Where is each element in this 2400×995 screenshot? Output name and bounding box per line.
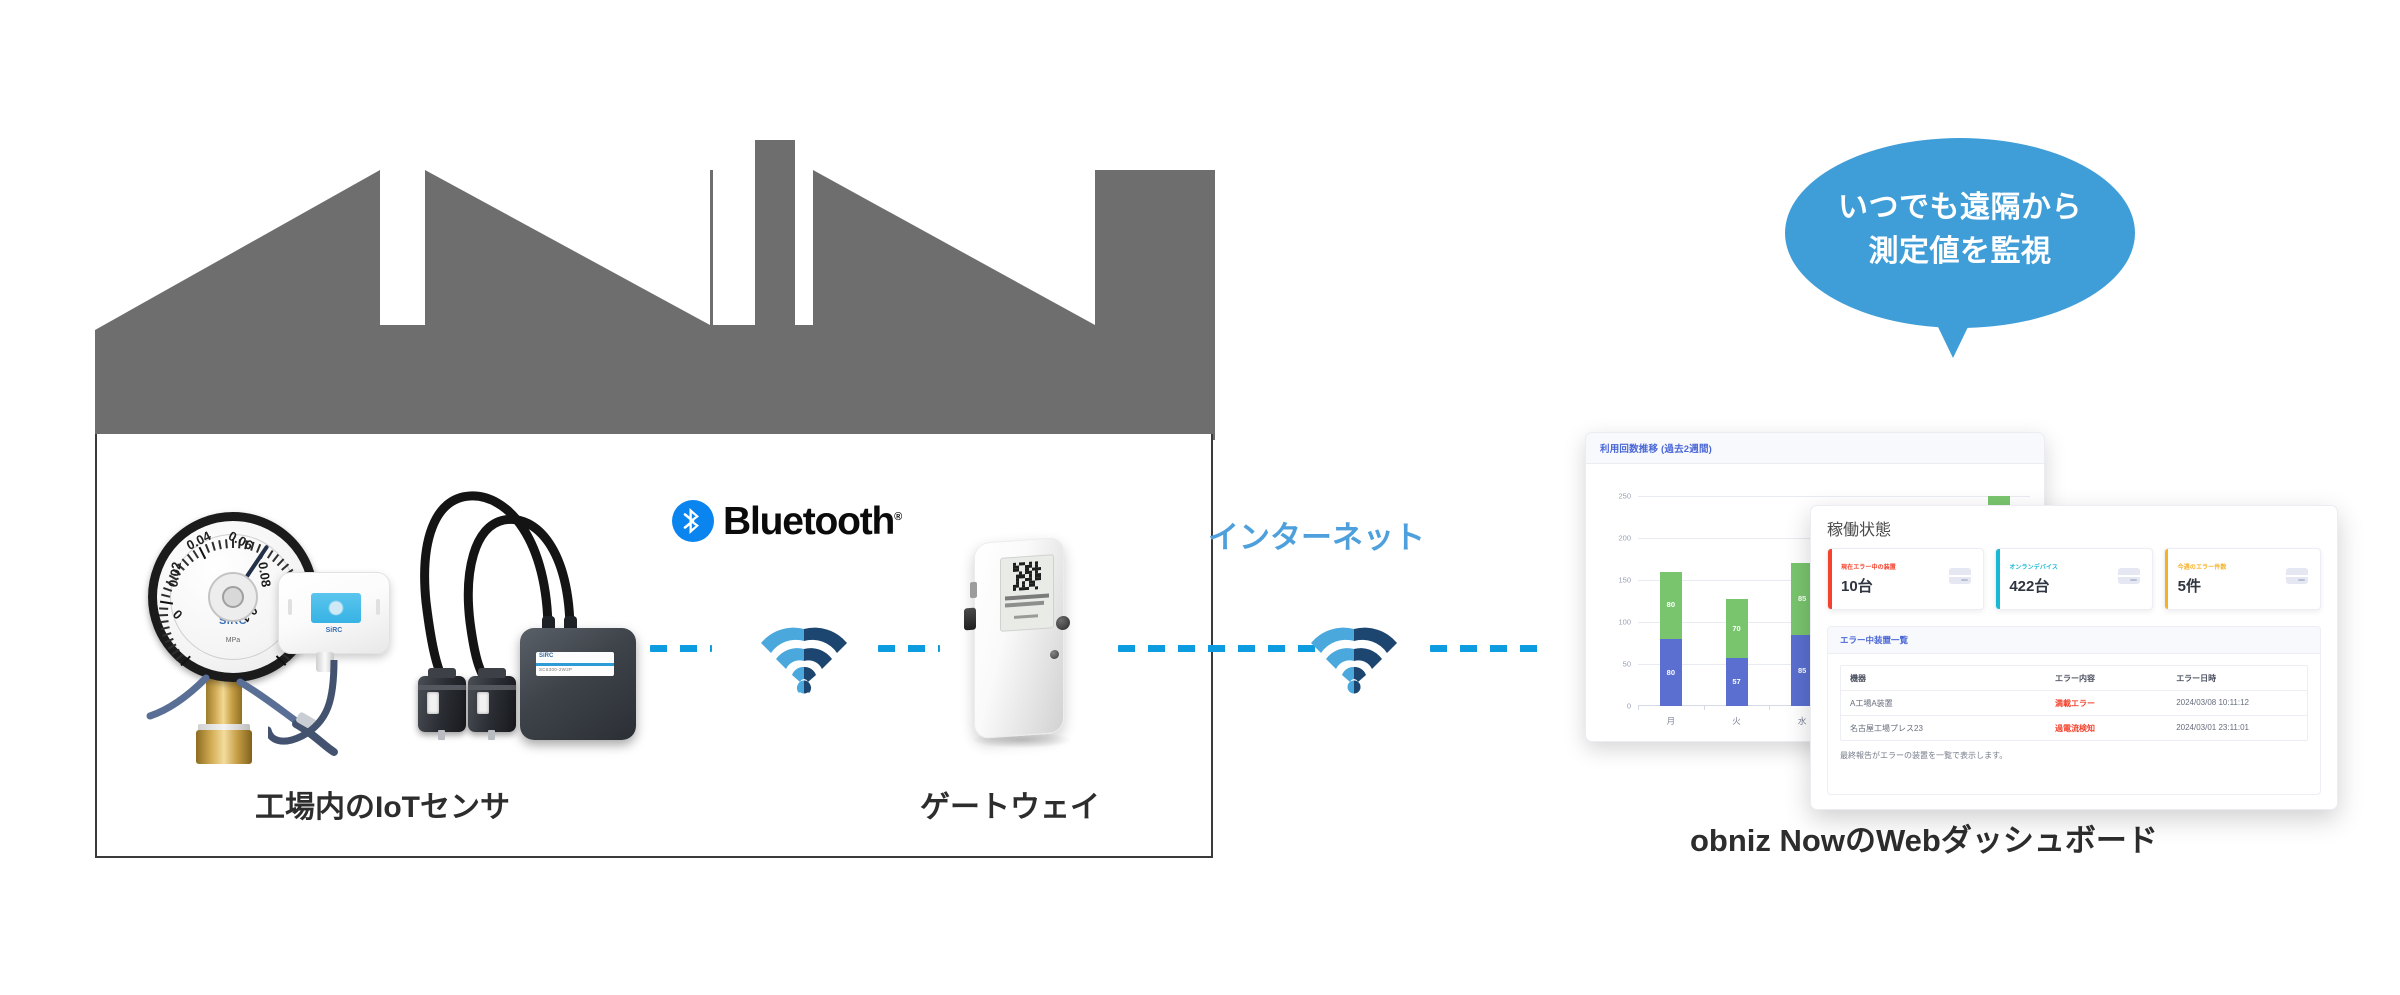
gauge-tick (187, 554, 194, 562)
chart-y-tick: 100 (1618, 618, 1631, 627)
chart-bar-value: 85 (1798, 595, 1806, 603)
table-cell-datetime: 2024/03/01 23:11:01 (2167, 716, 2307, 740)
gauge-unit-label: MPa (226, 637, 240, 644)
kpi-value: 422台 (2009, 575, 2049, 596)
sensor-cable (268, 660, 408, 790)
link-dash-4 (1430, 645, 1550, 652)
gauge-tick (161, 626, 170, 630)
gateway-main-button (1056, 616, 1070, 631)
speech-bubble-text: いつでも遠隔から 測定値を監視 (1785, 186, 2135, 273)
speech-bubble-line-2: 測定値を監視 (1785, 230, 2135, 274)
gauge-tick (160, 600, 173, 604)
qr-cell (1035, 586, 1038, 589)
gauge-tick (163, 587, 172, 592)
gauge-tick (165, 638, 174, 643)
ct-label-stripe (536, 663, 614, 666)
ct-sensor-label: SiRC SC6300-2W2P (536, 652, 614, 676)
table-row[interactable]: 名古屋工場プレス23過電流検知2024/03/01 23:11:01 (1841, 716, 2307, 740)
ct-clamp-2-pin (488, 730, 495, 740)
gauge-tick (272, 554, 279, 562)
error-panel-note: 最終報告がエラーの装置を一覧で表示します。 (1840, 750, 2308, 761)
sensor-indicator-dot (329, 601, 344, 616)
gauge-tick (159, 620, 168, 623)
gauge-tick (171, 649, 180, 656)
dashboard-caption: obniz NowのWebダッシュボード (1690, 815, 2158, 860)
ct-brand-label: SiRC (539, 653, 553, 659)
ct-model-label: SC6300-2W2P (539, 667, 572, 672)
kpi-card-1[interactable]: 現在エラー中の装置10台 (1827, 548, 1984, 610)
error-panel-title: エラー中装置一覧 (1840, 634, 1908, 646)
chart-y-tick: 250 (1618, 492, 1631, 501)
gateway-display-line-1 (1005, 593, 1049, 600)
bluetooth-text: Bluetooth (723, 500, 894, 543)
wifi-icon-bluetooth-link (750, 605, 858, 695)
chart-bar-segment-current: 57 (1726, 658, 1748, 706)
ct-clamp-1-pin (438, 730, 445, 740)
chart-axis-mark (1704, 706, 1705, 710)
kpi-value: 5件 (2178, 575, 2201, 596)
gauge-tick (159, 614, 168, 616)
kpi-value: 10台 (1841, 575, 1873, 596)
gauge-tick (175, 654, 183, 661)
chart-axis-mark (1638, 706, 1639, 710)
kpi-label: 現在エラー中の装置 (1841, 562, 1896, 571)
chart-y-tick: 150 (1618, 576, 1631, 585)
chart-y-tick: 200 (1618, 534, 1631, 543)
ct-clamp-1 (418, 676, 466, 732)
bluetooth-wordmark: Bluetooth® (723, 502, 901, 541)
kpi-card-3[interactable]: 今週のエラー件数5件 (2164, 548, 2321, 610)
bluetooth-icon (672, 500, 714, 542)
link-dash-1 (650, 645, 712, 652)
table-header-row: 機器エラー内容エラー日時 (1841, 666, 2307, 691)
gateway-display-line-3 (1014, 614, 1038, 619)
device-icon (2118, 568, 2140, 584)
chart-bar-value: 80 (1667, 601, 1675, 609)
gauge-tick (168, 643, 177, 649)
link-dash-3 (1118, 645, 1318, 652)
ct-sensor-body: SiRC SC6300-2W2P (520, 628, 636, 740)
chart-bar-value: 80 (1667, 669, 1675, 677)
gauge-hub-center (222, 586, 244, 608)
table-cell-device: A工場A装置 (1841, 691, 2046, 715)
chart-bar-value: 57 (1732, 678, 1740, 686)
qr-cell (1038, 577, 1041, 580)
status-card-title: 稼働状態 (1827, 516, 1891, 540)
chart-bar-segment-previous: 70 (1726, 599, 1748, 658)
error-device-panel: エラー中装置一覧 機器エラー内容エラー日時A工場A装置満載エラー2024/03/… (1827, 626, 2321, 795)
gateway-qr-code (1013, 561, 1041, 591)
table-column-header: エラー日時 (2167, 666, 2307, 690)
speech-bubble-line-1: いつでも遠隔から (1785, 186, 2135, 230)
qr-cell (1013, 588, 1016, 591)
chart-gridline (1638, 496, 2030, 497)
gauge-brass-nut (196, 730, 252, 764)
sensor-caption: 工場内のIoTセンサ (255, 782, 510, 826)
factory-roof-icon (95, 140, 1215, 440)
gateway-caption: ゲートウェイ (920, 782, 1100, 826)
internet-caption: インターネット (1208, 512, 1425, 557)
chart-bar-segment-previous: 80 (1660, 572, 1682, 639)
table-cell-error: 過電流検知 (2046, 716, 2167, 740)
device-icon (1949, 568, 1971, 584)
gateway-side-port (964, 608, 976, 631)
diagram-canvas: 00.020.040.060.080.1 SiRC MPa SiRC (0, 0, 2400, 995)
gateway-side-button (970, 582, 977, 598)
kpi-row: 現在エラー中の装置10台オンランデバイス422台今週のエラー件数5件 (1827, 548, 2321, 610)
gauge-tick (162, 632, 171, 637)
gateway-display (1000, 554, 1054, 632)
chart-y-tick: 0 (1627, 702, 1631, 711)
table-column-header: エラー内容 (2046, 666, 2167, 690)
chart-bar-value: 85 (1798, 667, 1806, 675)
kpi-label: オンランデバイス (2009, 562, 2058, 571)
gauge-tick (267, 550, 274, 559)
sensor-vent-left (288, 599, 292, 615)
qr-cell (1025, 587, 1028, 590)
table-cell-device: 名古屋工場プレス23 (1841, 716, 2046, 740)
gauge-tick (161, 594, 170, 598)
sensor-display (311, 593, 361, 623)
ct-clamp-1-top (428, 668, 456, 678)
chart-x-tick: 月 (1667, 715, 1676, 727)
table-column-header: 機器 (1841, 666, 2046, 690)
device-icon (2286, 568, 2308, 584)
table-cell-error: 満載エラー (2046, 691, 2167, 715)
gauge-tick (180, 655, 191, 666)
dashboard-status-card[interactable]: 稼働状態 現在エラー中の装置10台オンランデバイス422台今週のエラー件数5件 … (1810, 505, 2338, 810)
iot-gateway-device (960, 528, 1110, 778)
gauge-tick (211, 542, 215, 551)
chart-axis-mark (1769, 706, 1770, 710)
bluetooth-registered-mark: ® (894, 511, 901, 523)
speech-bubble: いつでも遠隔から 測定値を監視 (1785, 138, 2135, 328)
kpi-accent-bar (2165, 549, 2169, 609)
table-cell-datetime: 2024/03/08 10:11:12 (2167, 691, 2307, 715)
kpi-label: 今週のエラー件数 (2178, 562, 2227, 571)
chart-x-tick: 水 (1798, 715, 1807, 727)
error-panel-header: エラー中装置一覧 (1828, 627, 2320, 654)
gauge-tick (281, 563, 289, 570)
kpi-accent-bar (1996, 549, 2000, 609)
ct-clamp-2 (468, 676, 516, 732)
chart-y-tick: 50 (1623, 660, 1631, 669)
table-row[interactable]: A工場A装置満載エラー2024/03/08 10:11:12 (1841, 691, 2307, 716)
chart-card-header: 利用回数推移 (過去2週間) (1586, 433, 2044, 464)
iot-wireless-sensor: SiRC (278, 572, 390, 654)
chart-bar-segment-current: 80 (1660, 639, 1682, 706)
kpi-accent-bar (1828, 549, 1832, 609)
sensor-vent-right (376, 599, 380, 615)
chart-title: 利用回数推移 (過去2週間) (1600, 441, 1712, 455)
kpi-card-2[interactable]: オンランデバイス422台 (1995, 548, 2152, 610)
gauge-tick (277, 558, 285, 566)
error-device-table: 機器エラー内容エラー日時A工場A装置満載エラー2024/03/08 10:11:… (1840, 665, 2308, 741)
chart-x-tick: 火 (1732, 715, 1741, 727)
qr-cell (1038, 567, 1041, 570)
chart-bar-value: 70 (1732, 625, 1740, 633)
gauge-tick (159, 607, 168, 610)
link-dash-2 (878, 645, 940, 652)
ct-clamp-2-top (478, 668, 506, 678)
gauge-tick (218, 540, 222, 549)
bluetooth-logo: Bluetooth® (672, 500, 901, 542)
ct-current-sensor: SiRC SC6300-2W2P (412, 480, 634, 772)
wifi-icon-internet-link (1300, 605, 1408, 695)
sensor-brand-label: SiRC (279, 627, 389, 634)
gateway-display-line-2 (1005, 601, 1044, 608)
